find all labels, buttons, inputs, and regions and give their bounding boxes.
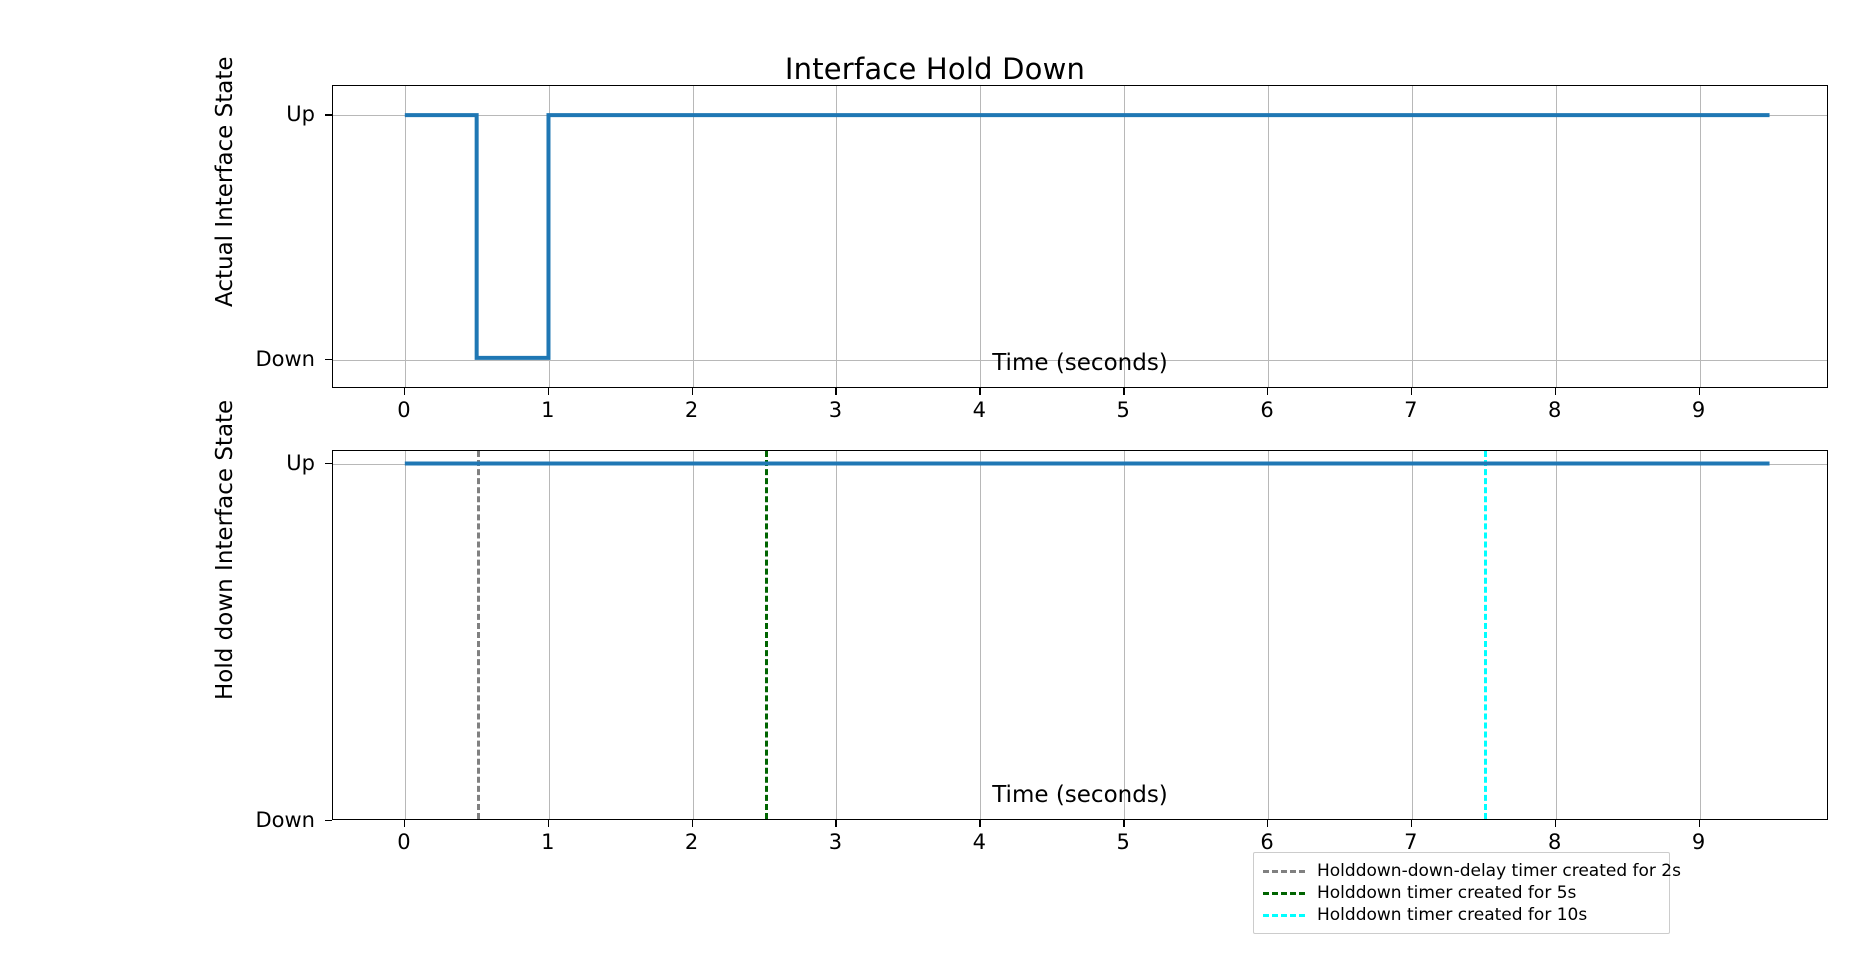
x-tick-mark: [1555, 388, 1556, 395]
legend-line-swatch-icon: [1263, 892, 1305, 894]
y-tick-label: Down: [195, 347, 315, 371]
legend-label: Holddown timer created for 10s: [1317, 905, 1587, 925]
x-tick-label: 0: [369, 398, 439, 422]
x-tick-mark: [835, 820, 836, 827]
x-tick-mark: [1411, 388, 1412, 395]
x-tick-mark: [1267, 388, 1268, 395]
series-layer: [333, 451, 1827, 819]
series-layer: [333, 86, 1827, 387]
x-tick-mark: [692, 388, 693, 395]
legend-line-swatch-icon: [1263, 914, 1305, 916]
axes-hold-down-interface-state: [332, 450, 1828, 820]
x-tick-mark: [548, 388, 549, 395]
x-tick-mark: [404, 820, 405, 827]
x-tick-label: 9: [1664, 398, 1734, 422]
x-tick-label: 7: [1376, 830, 1446, 854]
x-tick-label: 4: [944, 830, 1014, 854]
x-tick-mark: [835, 388, 836, 395]
x-axis-label-bottom: Time (seconds): [332, 782, 1828, 808]
x-tick-label: 8: [1520, 830, 1590, 854]
x-axis-label-top: Time (seconds): [332, 350, 1828, 376]
x-tick-label: 6: [1232, 830, 1302, 854]
y-tick-mark: [325, 820, 332, 821]
legend-label: Holddown timer created for 5s: [1317, 883, 1576, 903]
x-tick-label: 1: [513, 830, 583, 854]
y-axis-label-top: Actual Interface State: [212, 56, 238, 307]
x-tick-mark: [979, 388, 980, 395]
x-tick-mark: [1699, 388, 1700, 395]
series-container: [333, 86, 1827, 387]
x-tick-mark: [1555, 820, 1556, 827]
figure-canvas: Interface Hold Down 0123456789DownUp Act…: [0, 0, 1870, 974]
legend: Holddown-down-delay timer created for 2s…: [1253, 852, 1670, 934]
x-tick-mark: [979, 820, 980, 827]
legend-item[interactable]: Holddown timer created for 5s: [1263, 882, 1659, 904]
x-tick-mark: [1411, 820, 1412, 827]
legend-item[interactable]: Holddown-down-delay timer created for 2s: [1263, 860, 1659, 882]
figure-title: Interface Hold Down: [0, 52, 1870, 86]
x-tick-label: 2: [657, 830, 727, 854]
x-tick-label: 5: [1088, 830, 1158, 854]
y-axis-label-bottom: Hold down Interface State: [212, 400, 238, 700]
x-tick-mark: [1123, 388, 1124, 395]
x-tick-mark: [692, 820, 693, 827]
x-tick-mark: [1267, 820, 1268, 827]
x-tick-label: 8: [1520, 398, 1590, 422]
x-tick-label: 7: [1376, 398, 1446, 422]
y-tick-mark: [325, 114, 332, 115]
x-tick-label: 5: [1088, 398, 1158, 422]
y-tick-mark: [325, 463, 332, 464]
x-tick-label: 9: [1664, 830, 1734, 854]
data-line-actual-interface-state: [405, 115, 1770, 358]
legend-line-swatch-icon: [1263, 870, 1305, 872]
x-tick-label: 2: [657, 398, 727, 422]
axes-actual-interface-state: [332, 85, 1828, 388]
plot-area-top: [333, 86, 1827, 387]
x-tick-mark: [1699, 820, 1700, 827]
legend-item[interactable]: Holddown timer created for 10s: [1263, 904, 1659, 926]
y-tick-label: Down: [195, 808, 315, 832]
y-tick-mark: [325, 359, 332, 360]
x-tick-label: 0: [369, 830, 439, 854]
x-tick-mark: [404, 388, 405, 395]
x-tick-label: 3: [800, 830, 870, 854]
x-tick-label: 3: [800, 398, 870, 422]
plot-area-bottom: [333, 451, 1827, 819]
x-tick-mark: [1123, 820, 1124, 827]
series-container: [333, 451, 1827, 819]
x-tick-label: 1: [513, 398, 583, 422]
legend-label: Holddown-down-delay timer created for 2s: [1317, 861, 1681, 881]
x-tick-mark: [548, 820, 549, 827]
x-tick-label: 4: [944, 398, 1014, 422]
x-tick-label: 6: [1232, 398, 1302, 422]
